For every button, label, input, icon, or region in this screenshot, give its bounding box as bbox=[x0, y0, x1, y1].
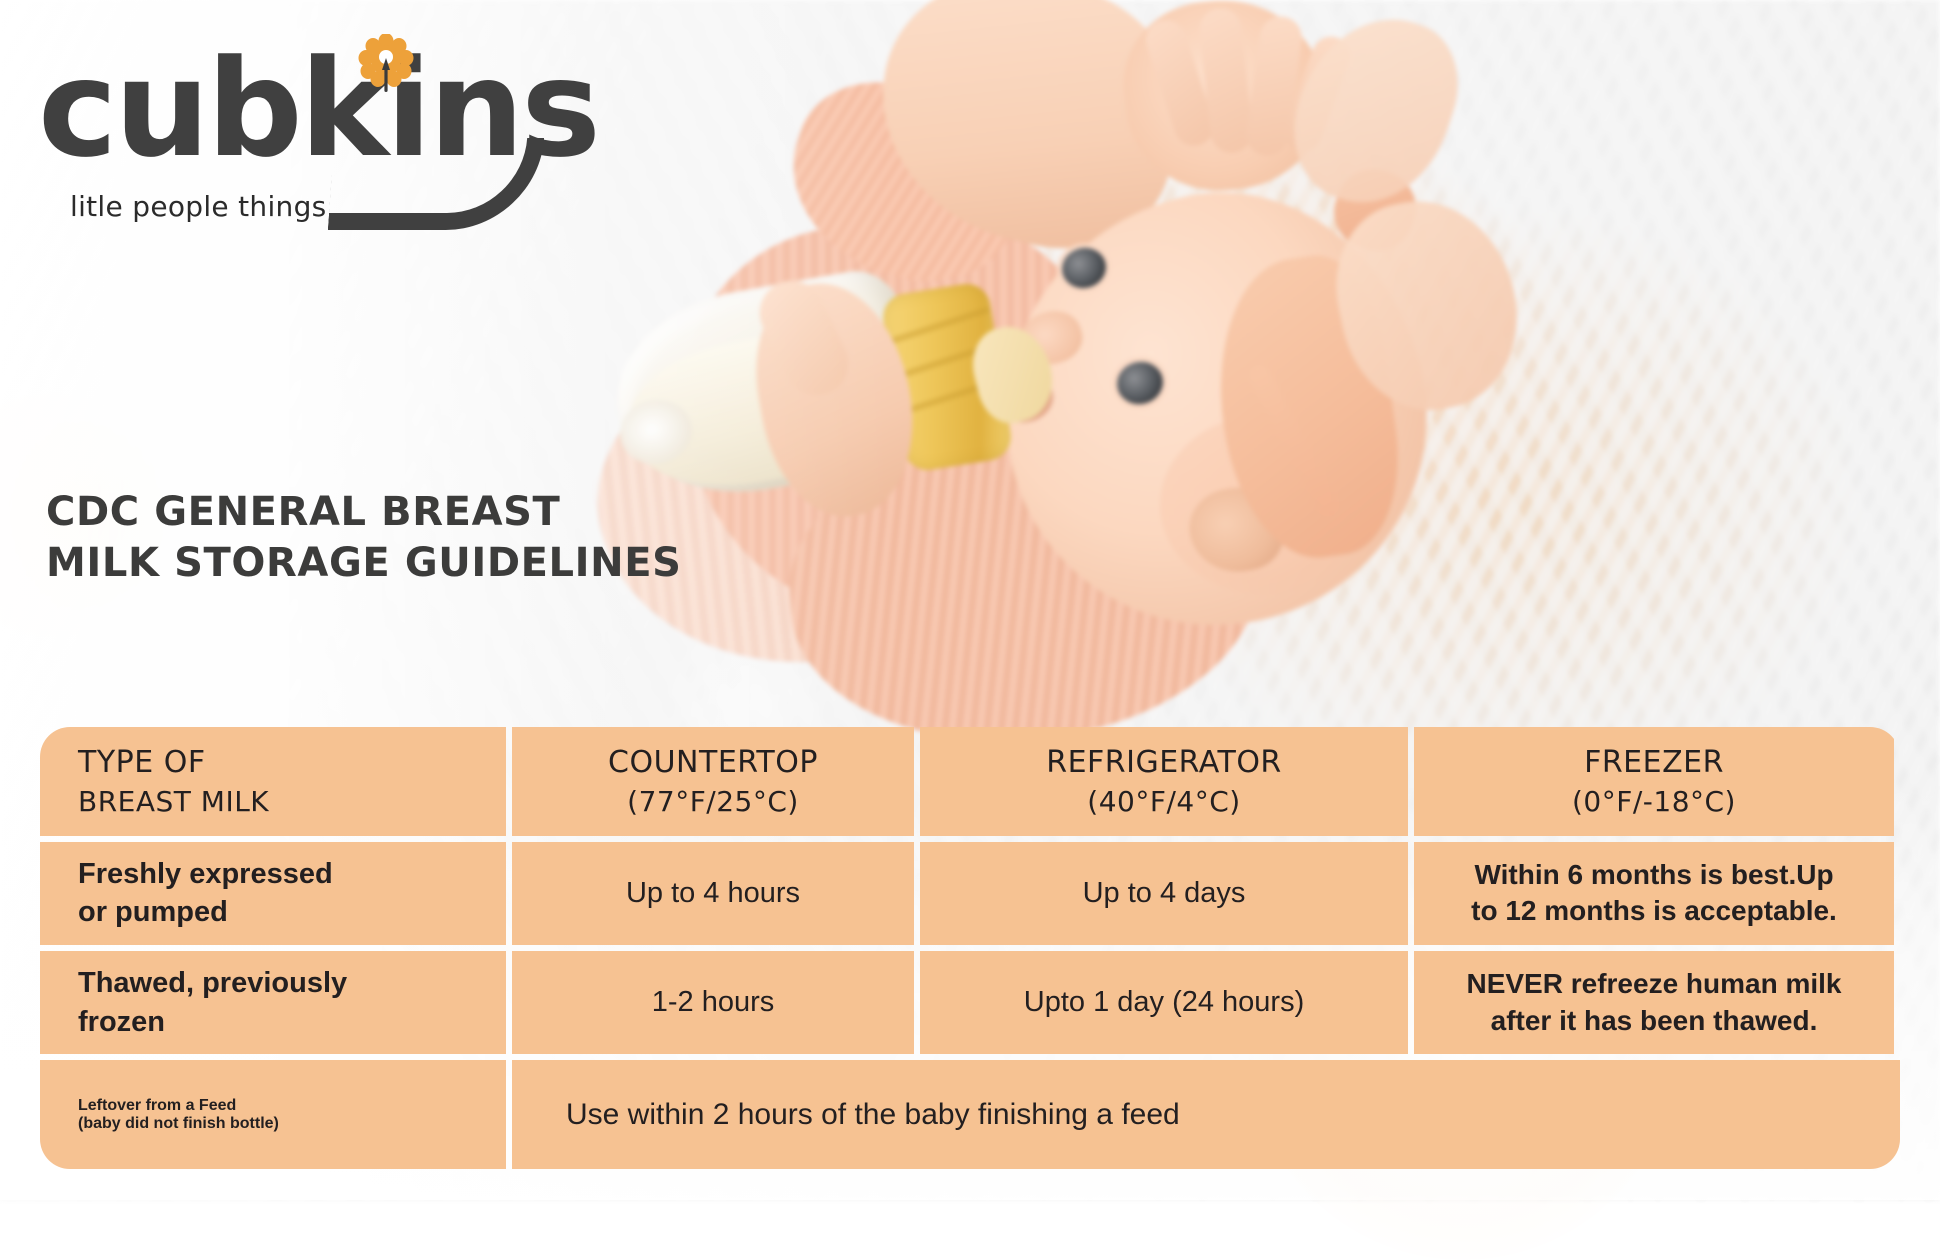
cell-refrigerator: Upto 1 day (24 hours) bbox=[920, 951, 1408, 1054]
cell-leftover-note: Use within 2 hours of the baby finishing… bbox=[512, 1060, 1900, 1169]
header-line2: (77°F/25°C) bbox=[627, 783, 799, 821]
cell-line2: to 12 months is acceptable. bbox=[1471, 893, 1837, 930]
header-cell-freezer: FREEZER (0°F/-18°C) bbox=[1414, 727, 1894, 836]
cell-milk-type: Leftover from a Feed (baby did not finis… bbox=[40, 1060, 506, 1169]
page-title-line2: MILK STORAGE GUIDELINES bbox=[46, 540, 682, 586]
cell-milk-type: Thawed, previously frozen bbox=[40, 951, 506, 1054]
table-row: Freshly expressed or pumped Up to 4 hour… bbox=[40, 842, 1900, 945]
cell-freezer: NEVER refreeze human milk after it has b… bbox=[1414, 951, 1894, 1054]
cell-freezer: Within 6 months is best.Up to 12 months … bbox=[1414, 842, 1894, 945]
cell-line1: Within 6 months is best.Up bbox=[1474, 857, 1833, 894]
cell-line2: or pumped bbox=[78, 893, 492, 931]
cell-line1: Freshly expressed bbox=[78, 855, 492, 893]
table-row: Leftover from a Feed (baby did not finis… bbox=[40, 1060, 1900, 1169]
page-title-line1: CDC GENERAL BREAST bbox=[46, 489, 560, 535]
cell-milk-type: Freshly expressed or pumped bbox=[40, 842, 506, 945]
cell-line2: after it has been thawed. bbox=[1491, 1003, 1818, 1040]
table-header-row: TYPE OF BREAST MILK COUNTERTOP (77°F/25°… bbox=[40, 727, 1900, 836]
header-cell-type-of-breast-milk: TYPE OF BREAST MILK bbox=[40, 727, 506, 836]
brand-tagline: litle people things bbox=[70, 190, 327, 223]
header-cell-countertop: COUNTERTOP (77°F/25°C) bbox=[512, 727, 914, 836]
brand-swoosh bbox=[328, 138, 544, 230]
flower-icon bbox=[354, 34, 418, 102]
cell-line2: frozen bbox=[78, 1003, 492, 1041]
header-cell-refrigerator: REFRIGERATOR (40°F/4°C) bbox=[920, 727, 1408, 836]
header-line1: COUNTERTOP bbox=[608, 743, 818, 783]
header-line2: (40°F/4°C) bbox=[1087, 783, 1240, 821]
header-line1: FREEZER bbox=[1584, 743, 1724, 783]
cell-countertop: 1-2 hours bbox=[512, 951, 914, 1054]
milk-storage-table: TYPE OF BREAST MILK COUNTERTOP (77°F/25°… bbox=[40, 727, 1900, 1169]
cell-refrigerator: Up to 4 days bbox=[920, 842, 1408, 945]
header-line1: REFRIGERATOR bbox=[1046, 743, 1282, 783]
cell-line1: Thawed, previously bbox=[78, 964, 492, 1002]
cell-line2: (baby did not finish bottle) bbox=[78, 1115, 492, 1133]
cell-line1: Leftover from a Feed bbox=[78, 1097, 492, 1115]
header-line2: BREAST MILK bbox=[78, 783, 492, 821]
header-line2: (0°F/-18°C) bbox=[1572, 783, 1736, 821]
cell-countertop: Up to 4 hours bbox=[512, 842, 914, 945]
page-title: CDC GENERAL BREAST MILK STORAGE GUIDELIN… bbox=[46, 487, 826, 589]
brand-logo[interactable]: cubkins litle people things bbox=[38, 20, 598, 240]
table-row: Thawed, previously frozen 1-2 hours Upto… bbox=[40, 951, 1900, 1054]
cell-line1: NEVER refreeze human milk bbox=[1466, 966, 1841, 1003]
header-line1: TYPE OF bbox=[78, 743, 492, 783]
